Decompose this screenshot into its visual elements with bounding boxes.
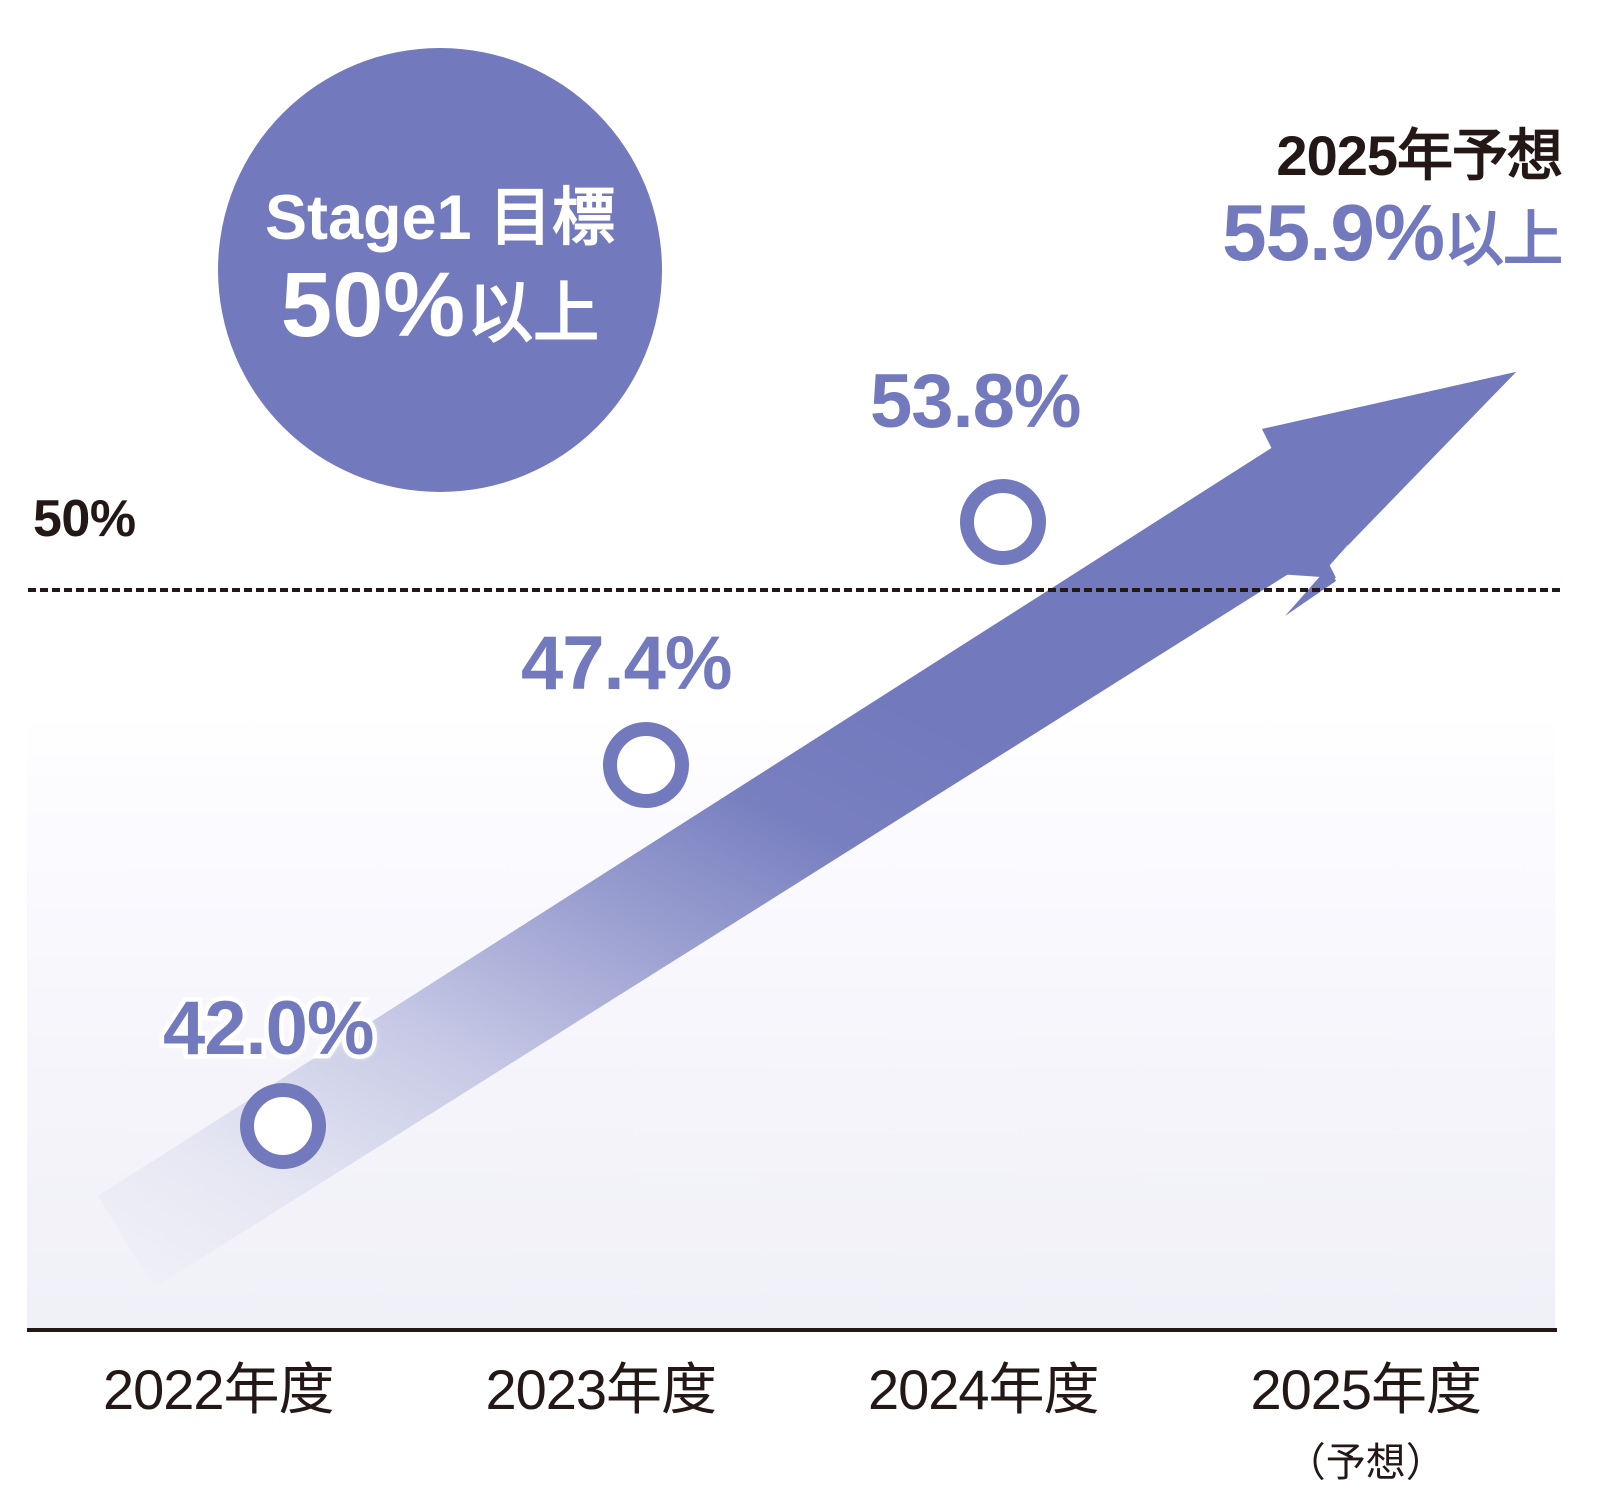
forecast-title: 2025年予想: [1222, 126, 1562, 185]
forecast-value-row: 55.9%以上: [1222, 191, 1562, 276]
data-point-label-2023: 47.4%: [521, 620, 732, 707]
reference-line-50: [28, 588, 1560, 592]
data-point-label-2024: 53.8%: [870, 358, 1081, 445]
stage1-goal-suffix: 以上: [467, 279, 599, 348]
x-axis-line: [27, 1328, 1557, 1332]
stage1-goal-percent: %: [383, 258, 465, 354]
data-point-label-2023-text: 47.4%: [521, 621, 732, 706]
stage1-goal-number: 50: [281, 258, 383, 354]
data-point-marker-2022[interactable]: [240, 1083, 326, 1169]
stage1-goal-value: 50%以上: [281, 258, 599, 354]
reference-line-label: 50%: [33, 489, 136, 549]
data-point-marker-2023[interactable]: [603, 722, 689, 808]
chart-canvas: 50% 42.0% 47.4% 53.8% Stage1 目標 50%以上 20…: [0, 0, 1600, 1510]
x-tick-2022: 2022年度: [27, 1345, 410, 1488]
x-tick-2025-sub: （予想）: [1175, 1430, 1558, 1488]
forecast-callout: 2025年予想 55.9%以上: [1222, 126, 1562, 276]
x-tick-2022-label: 2022年度: [103, 1358, 334, 1421]
data-point-label-2022: 42.0%: [163, 985, 374, 1072]
x-tick-2024-label: 2024年度: [868, 1358, 1099, 1421]
x-tick-2025-label: 2025年度: [1250, 1358, 1481, 1421]
x-tick-2024: 2024年度: [792, 1345, 1175, 1488]
x-tick-2025: 2025年度 （予想）: [1175, 1345, 1558, 1488]
data-point-marker-2024[interactable]: [960, 479, 1046, 565]
forecast-value-suffix: 以上: [1444, 206, 1562, 273]
data-point-label-2024-text: 53.8%: [870, 359, 1081, 444]
data-point-label-2022-text: 42.0%: [163, 986, 374, 1071]
forecast-value: 55.9%: [1222, 188, 1444, 277]
x-axis-tick-labels: 2022年度 2023年度 2024年度 2025年度 （予想）: [27, 1345, 1557, 1488]
x-tick-2023-label: 2023年度: [485, 1358, 716, 1421]
x-tick-2023: 2023年度: [410, 1345, 793, 1488]
stage1-goal-title: Stage1 目標: [265, 186, 615, 252]
stage1-goal-badge: Stage1 目標 50%以上: [218, 48, 662, 492]
